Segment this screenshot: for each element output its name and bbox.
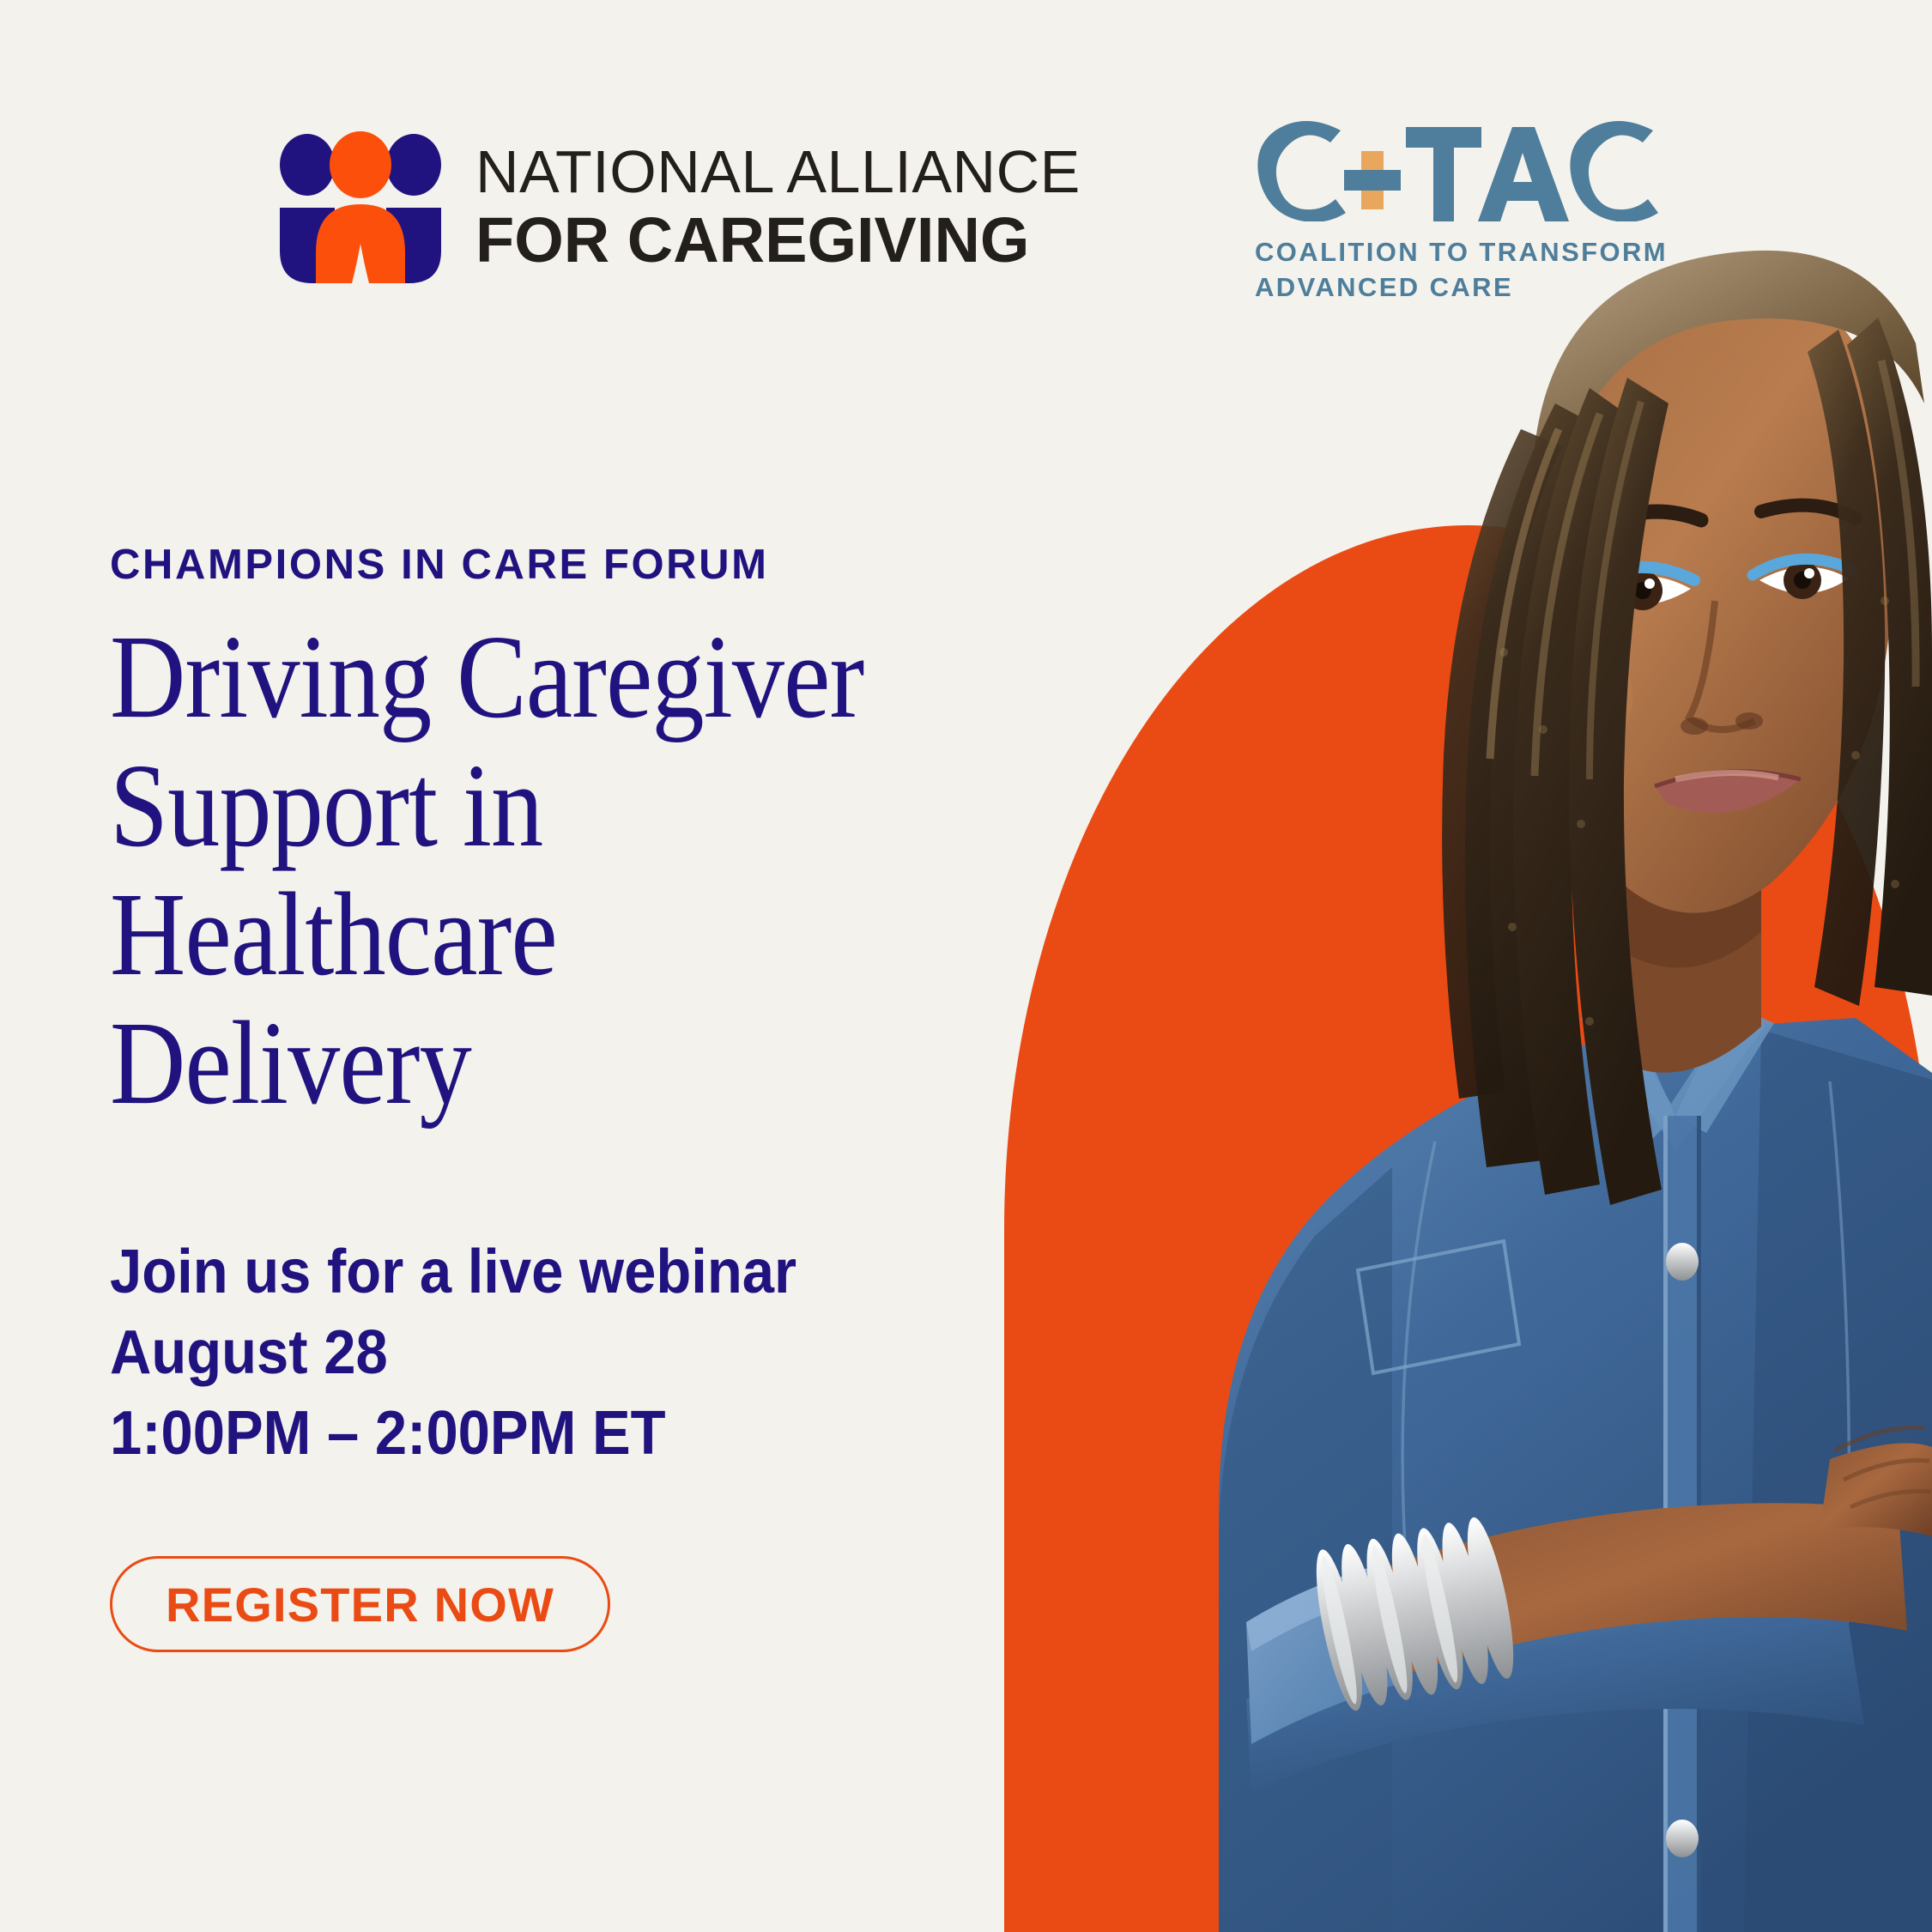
headline-line-4: Delivery (110, 999, 873, 1128)
event-invite-line: Join us for a live webinar (110, 1232, 916, 1313)
ctac-tagline: COALITION TO TRANSFORM ADVANCED CARE (1255, 235, 1668, 306)
three-people-group-icon (276, 130, 445, 283)
ctac-wordmark-icon (1255, 120, 1658, 221)
page-title: Driving Caregiver Support in Healthcare … (110, 613, 873, 1128)
nac-logo[interactable]: NATIONAL ALLIANCE FOR CAREGIVING (276, 130, 1081, 283)
promotional-poster: NATIONAL ALLIANCE FOR CAREGIVING COALITI… (0, 0, 1932, 1932)
eyebrow-label: CHAMPIONS IN CARE FORUM (110, 541, 977, 589)
shirt-button (1666, 1820, 1699, 1857)
headline-line-3: Healthcare (110, 870, 873, 999)
headline-line-2: Support in (110, 742, 873, 870)
nac-wordmark-line2: FOR CAREGIVING (475, 209, 1081, 272)
event-time: 1:00PM – 2:00PM ET (110, 1394, 916, 1475)
event-date: August 28 (110, 1313, 916, 1394)
register-now-button[interactable]: REGISTER NOW (110, 1556, 610, 1652)
event-details: Join us for a live webinar August 28 1:0… (110, 1232, 977, 1474)
logo-row: NATIONAL ALLIANCE FOR CAREGIVING COALITI… (0, 0, 1932, 343)
cta-wrapper: REGISTER NOW (110, 1556, 977, 1652)
headline-line-1: Driving Caregiver (110, 613, 873, 742)
nac-wordmark-line1: NATIONAL ALLIANCE (475, 142, 1081, 202)
ctac-logo[interactable]: COALITION TO TRANSFORM ADVANCED CARE (1255, 120, 1668, 306)
main-content: CHAMPIONS IN CARE FORUM Driving Caregive… (110, 541, 977, 1652)
shirt-button (1666, 1243, 1699, 1281)
nac-wordmark: NATIONAL ALLIANCE FOR CAREGIVING (475, 142, 1081, 272)
